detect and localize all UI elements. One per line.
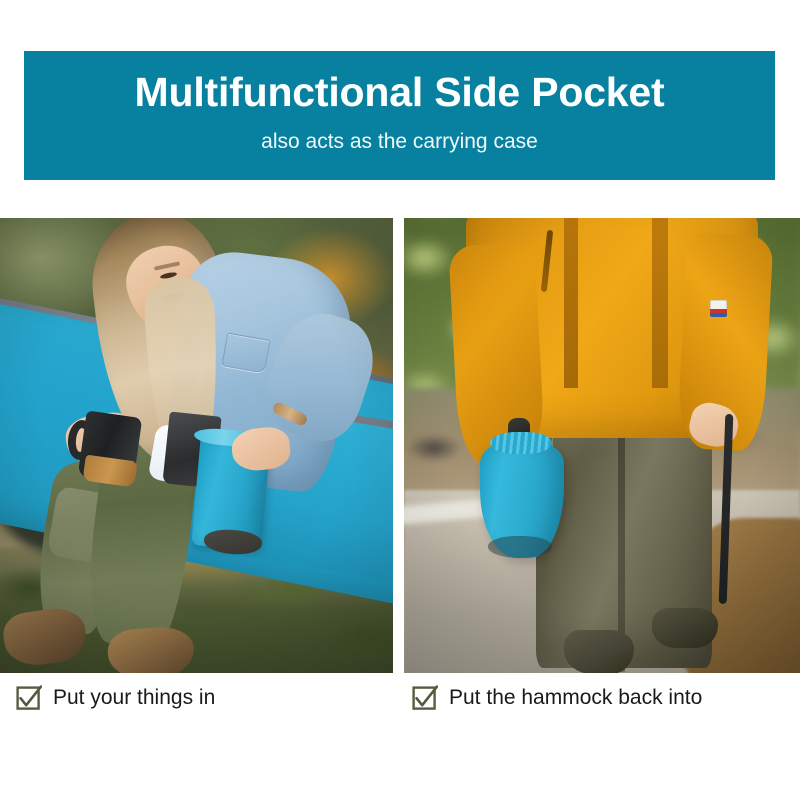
banner-subtitle: also acts as the carrying case [261,129,538,155]
caption-label-left: Put your things in [53,686,215,710]
woman-boot-front [106,625,195,673]
denim-shirt-chest-pocket [221,332,270,373]
jacket-brand-label [710,300,727,317]
photo-left [0,218,393,673]
checkbox-checked-icon [412,685,438,711]
banner-title: Multifunctional Side Pocket [135,67,665,117]
caption-row: Put your things in Put the hammock back … [0,676,800,720]
jacket-placket-left [564,218,578,388]
header-banner: Multifunctional Side Pocket also acts as… [24,51,775,180]
caption-item-right: Put the hammock back into [412,676,702,720]
photo-right [404,218,800,673]
caption-label-right: Put the hammock back into [449,686,702,710]
stuff-sack-bottom-shadow [488,536,552,558]
man-boot-left [564,630,634,673]
caption-item-left: Put your things in [16,676,215,720]
jacket-placket-right [652,218,668,388]
infographic-page: Multifunctional Side Pocket also acts as… [0,0,800,800]
checkbox-checked-icon [16,685,42,711]
photo-row [0,218,800,673]
man-boot-right [652,608,718,648]
stuff-sack-cinch-top [490,432,552,454]
